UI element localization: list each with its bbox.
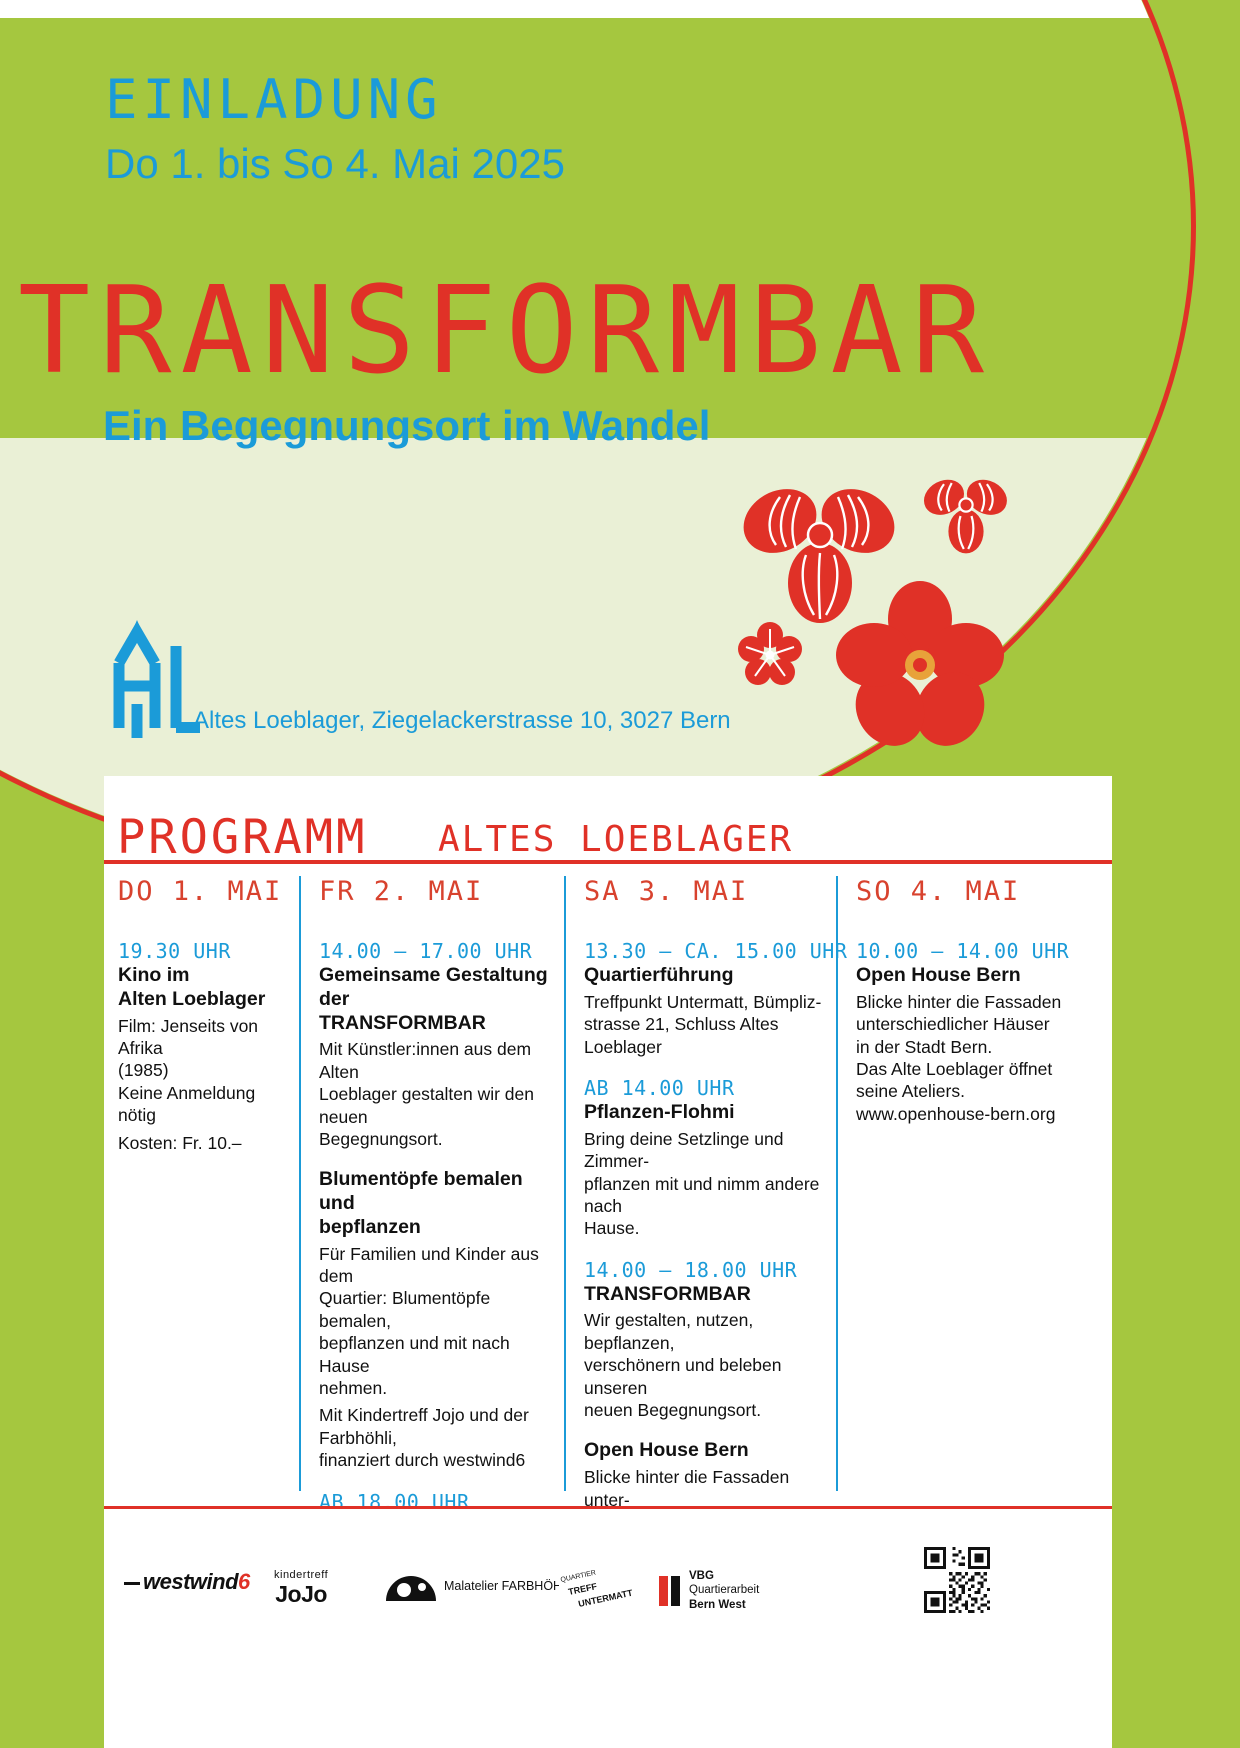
quartiertreff-untermatt-logo: QUARTIER TREFF UNTERMATT [559,1569,637,1616]
programme-heading: PROGRAMM [117,810,367,865]
event-title: Pflanzen-Flohmi [584,1101,822,1125]
vbg-quartierarbeit-logo: VBG Quartierarbeit Bern West [659,1569,759,1612]
event-block: AB 14.00 UHR Pflanzen-Flohmi Bring deine… [584,1076,822,1240]
event-time: 14.00 – 18.00 UHR [584,1258,822,1282]
sponsor-logos: westwind6 kindertreff JoJo Malatelier FA… [104,1509,1112,1748]
event-time: 14.00 – 17.00 UHR [319,939,548,963]
programme-divider [104,860,1112,864]
event-dates: Do 1. bis So 4. Mai 2025 [105,140,565,188]
day-title: SA 3. MAI [584,876,822,907]
event-title: Kino imAlten Loeblager [118,964,285,1012]
poster-subtitle: Ein Begegnungsort im Wandel [103,402,710,450]
event-title: Gemeinsame Gestaltung derTRANSFORMBAR [319,964,548,1035]
sponsor-line1: VBG [689,1569,759,1583]
programme-column-fr-2-mai: FR 2. MAI 14.00 – 17.00 UHR Gemeinsame G… [299,876,564,1491]
event-block: 10.00 – 14.00 UHR Open House Bern Blicke… [856,939,1102,1125]
sponsor-accent: 6 [238,1569,250,1594]
event-block: 13.30 – CA. 15.00 UHR Quartierführung Tr… [584,939,822,1058]
event-body: Film: Jenseits von Afrika(1985)Keine Anm… [118,1015,285,1127]
event-block: 14.00 – 18.00 UHR TRANSFORMBAR Wir gesta… [584,1258,822,1422]
programme-columns: DO 1. MAI 19.30 UHR Kino imAlten Loeblag… [104,876,1112,1491]
sponsor-line1: kindertreff [274,1569,328,1581]
farbhoehli-logo: Malatelier FARBHÖHLI [384,1569,573,1603]
quartiertreff-mark: QUARTIER TREFF UNTERMATT [559,1569,637,1611]
programme-column-so-4-mai: SO 4. MAI 10.00 – 14.00 UHR Open House B… [836,876,1112,1491]
event-title: Blumentöpfe bemalen undbepflanzen [319,1168,548,1239]
event-body: Treffpunkt Untermatt, Bümpliz-strasse 21… [584,991,822,1058]
programme-column-do-1-mai: DO 1. MAI 19.30 UHR Kino imAlten Loeblag… [104,876,299,1491]
event-time: 13.30 – CA. 15.00 UHR [584,939,822,963]
event-body: Für Familien und Kinder aus demQuartier:… [319,1243,548,1400]
event-body: Kosten: Fr. 10.– [118,1132,285,1154]
qr-code[interactable] [924,1547,990,1618]
event-body: Mit Künstler:innen aus dem AltenLoeblage… [319,1038,548,1150]
sponsor-name: westwind [143,1569,238,1594]
programme-subheading: ALTES LOEBLAGER [438,819,793,860]
event-block: 19.30 UHR Kino imAlten Loeblager Film: J… [118,939,285,1154]
vbg-mark [659,1576,681,1606]
sponsor-line3: Bern West [689,1598,759,1612]
event-block: 14.00 – 17.00 UHR Gemeinsame Gestaltung … [319,939,548,1150]
sponsor-line2: JoJo [274,1581,328,1608]
sponsor-name: Malatelier FARBHÖHLI [444,1579,573,1593]
programme-column-sa-3-mai: SA 3. MAI 13.30 – CA. 15.00 UHR Quartier… [564,876,836,1491]
event-title: TRANSFORMBAR [584,1283,822,1307]
kindertreff-jojo-logo: kindertreff JoJo [274,1569,328,1608]
event-body: Blicke hinter die Fassadenunterschiedlic… [856,991,1102,1125]
day-title: SO 4. MAI [856,876,1102,907]
event-time: 10.00 – 14.00 UHR [856,939,1102,963]
day-title: FR 2. MAI [319,876,548,907]
flower-decoration [720,455,1040,775]
event-body: Bring deine Setzlinge und Zimmer-pflanze… [584,1128,822,1240]
event-body: Wir gestalten, nutzen, bepflanzen,versch… [584,1309,822,1421]
westwind6-logo: westwind6 [124,1569,250,1595]
poster-title: TRANSFORMBAR [18,272,993,392]
altes-loeblager-house-logo [110,588,200,738]
event-block: Blumentöpfe bemalen undbepflanzen Für Fa… [319,1168,548,1471]
invitation-kicker: EINLADUNG [105,68,443,131]
event-title: Open House Bern [856,964,1102,988]
event-title: Open House Bern [584,1439,822,1463]
venue-address: Altes Loeblager, Ziegelackerstrasse 10, … [193,707,731,735]
poster: EINLADUNG Do 1. bis So 4. Mai 2025 TRANS… [0,0,1240,1748]
event-title: Quartierführung [584,964,822,988]
sponsor-text: VBG Quartierarbeit Bern West [689,1569,759,1612]
farbhoehli-mark [384,1569,438,1603]
event-time: 19.30 UHR [118,939,285,963]
day-title: DO 1. MAI [118,876,285,907]
event-body: Mit Kindertreff Jojo und der Farbhöhli,f… [319,1404,548,1471]
sponsor-line2: Quartierarbeit [689,1583,759,1597]
event-time: AB 14.00 UHR [584,1076,822,1100]
